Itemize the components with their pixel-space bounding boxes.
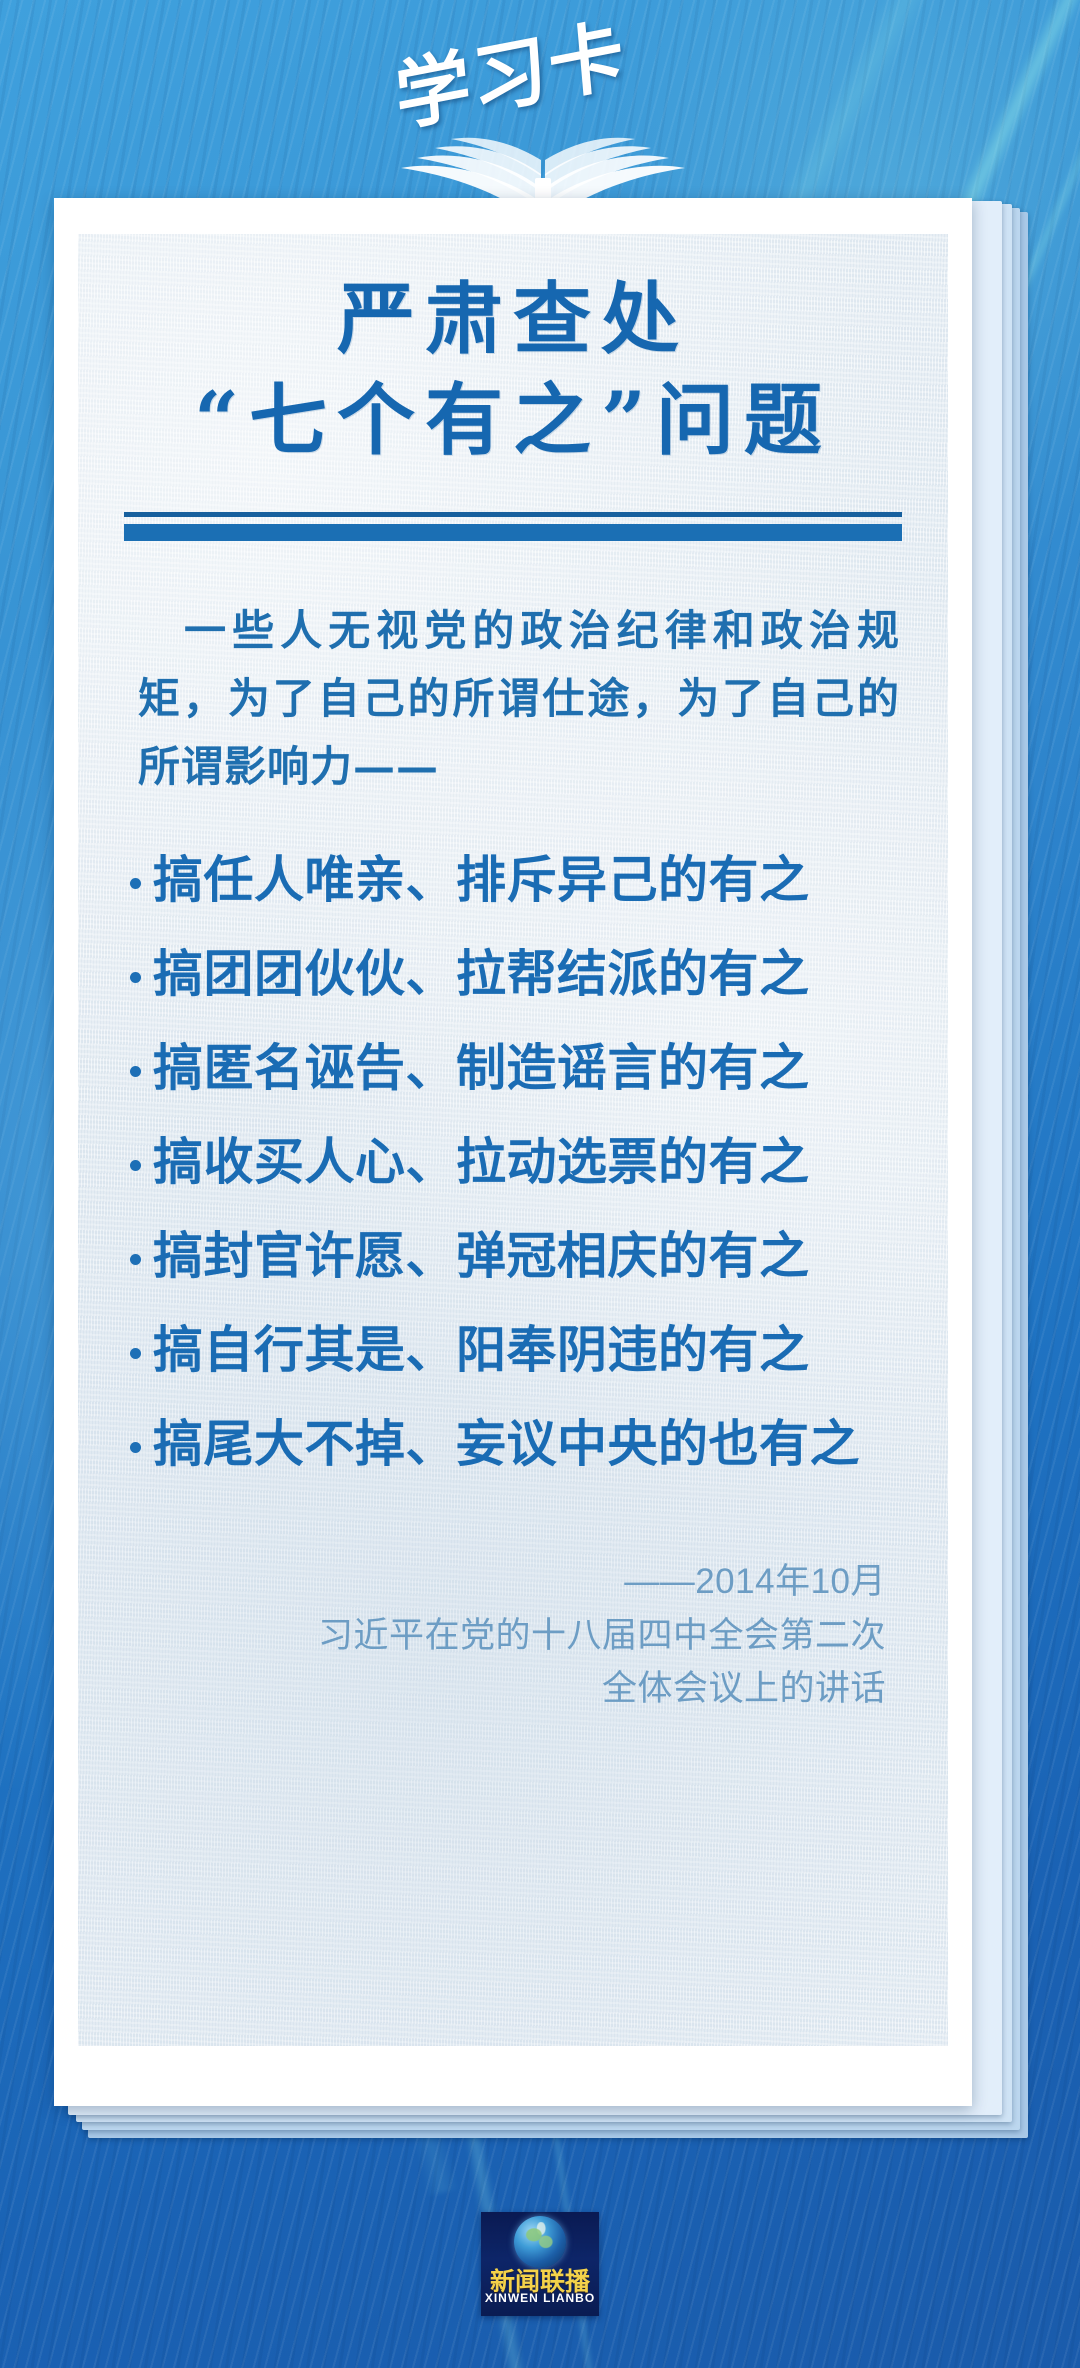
citation-line-3: 全体会议上的讲话 [118,1662,886,1715]
card-paper-surface: 严肃查处 “七个有之”问题 一些人无视党的政治纪律和政治规矩，为了自己的所谓仕途… [78,234,948,2046]
list-item: 搞任人唯亲、排斥异己的有之 [122,847,908,913]
divider-gap [124,517,902,524]
bullet-dot-icon [130,1160,141,1171]
bullet-dot-icon [130,1066,141,1077]
bullet-dot-icon [130,878,141,889]
list-item-label: 搞团团伙伙、拉帮结派的有之 [153,941,810,1007]
xinwen-lianbo-badge: 新闻联播 XINWEN LIANBO [481,2212,599,2316]
title-divider [124,512,902,541]
list-item-label: 搞收买人心、拉动选票的有之 [153,1129,810,1195]
citation-line-1: ——2014年10月 [118,1555,886,1608]
intro-paragraph: 一些人无视党的政治纪律和政治规矩，为了自己的所谓仕途，为了自己的所谓影响力—— [138,597,900,801]
title-line-2: “七个有之”问题 [118,373,908,468]
list-item: 搞收买人心、拉动选票的有之 [122,1129,908,1195]
badge-english-label: XINWEN LIANBO [481,2291,599,2305]
bullet-dot-icon [130,1442,141,1453]
list-item-label: 搞封官许愿、弹冠相庆的有之 [153,1223,810,1289]
brand-logo-text: 学习卡 [390,0,629,146]
bullet-dot-icon [130,1254,141,1265]
bullet-dot-icon [130,1348,141,1359]
content-card: 严肃查处 “七个有之”问题 一些人无视党的政治纪律和政治规矩，为了自己的所谓仕途… [54,198,972,2106]
source-citation: ——2014年10月 习近平在党的十八届四中全会第二次 全体会议上的讲话 [118,1555,908,1715]
list-item-label: 搞任人唯亲、排斥异己的有之 [153,847,810,913]
citation-line-2: 习近平在党的十八届四中全会第二次 [118,1609,886,1662]
list-item: 搞封官许愿、弹冠相庆的有之 [122,1223,908,1289]
list-item-label: 搞尾大不掉、妄议中央的也有之 [153,1411,860,1477]
list-item-label: 搞匿名诬告、制造谣言的有之 [153,1035,810,1101]
list-item: 搞匿名诬告、制造谣言的有之 [122,1035,908,1101]
poster-root: 学习卡 [0,0,1080,2368]
bullet-dot-icon [130,972,141,983]
list-item: 搞自行其是、阳奉阴违的有之 [122,1317,908,1383]
list-item-label: 搞自行其是、阳奉阴违的有之 [153,1317,810,1383]
globe-icon [514,2216,566,2268]
bullet-list: 搞任人唯亲、排斥异己的有之 搞团团伙伙、拉帮结派的有之 搞匿名诬告、制造谣言的有… [122,847,908,1477]
list-item: 搞尾大不掉、妄议中央的也有之 [122,1411,908,1477]
list-item: 搞团团伙伙、拉帮结派的有之 [122,941,908,1007]
divider-thick-line [124,524,902,541]
page-title: 严肃查处 “七个有之”问题 [118,234,908,468]
title-line-1: 严肃查处 [118,272,908,367]
card-stack: 严肃查处 “七个有之”问题 一些人无视党的政治纪律和政治规矩，为了自己的所谓仕途… [54,198,1026,2158]
